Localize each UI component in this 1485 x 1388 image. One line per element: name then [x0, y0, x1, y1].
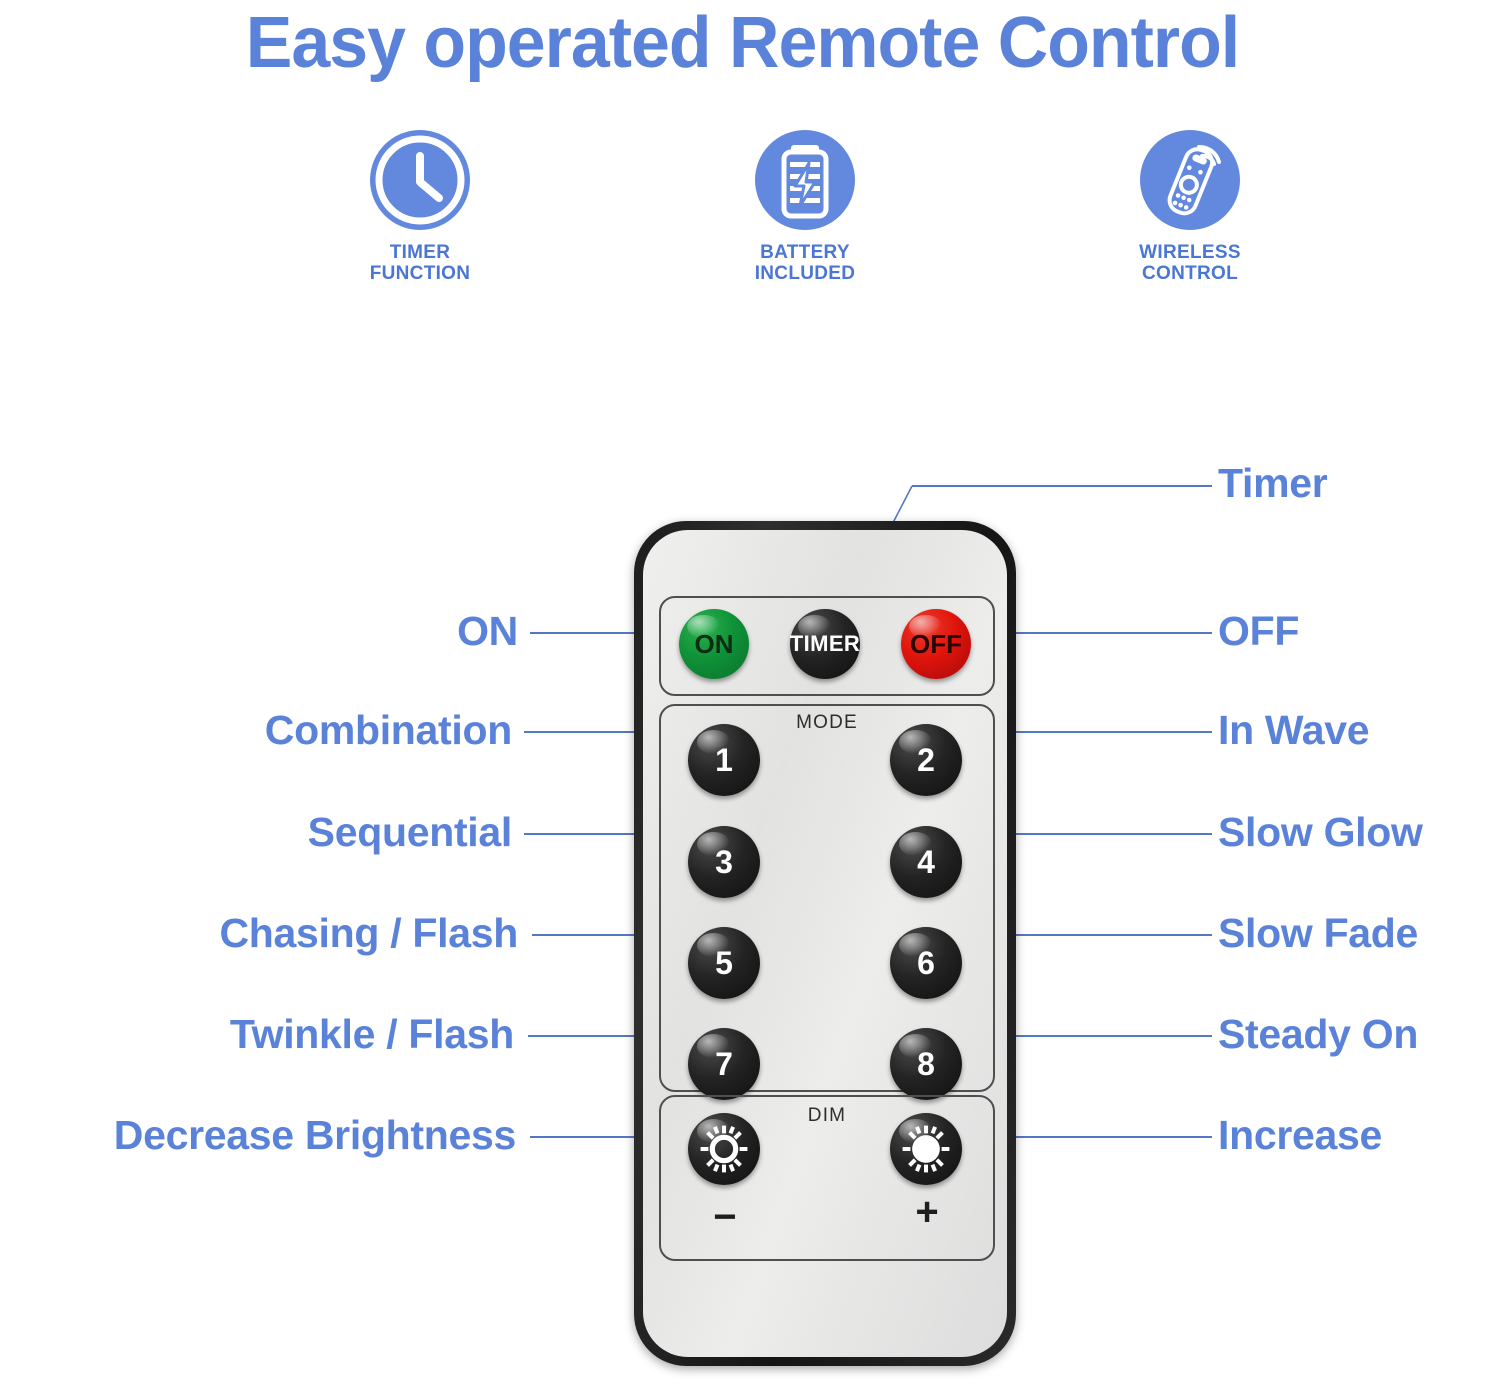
battery-icon	[755, 130, 855, 230]
feature-wireless-control: WIRELESS CONTROL	[1070, 130, 1310, 285]
callout-off: OFF	[1218, 611, 1299, 652]
remote-icon	[1140, 130, 1240, 230]
callout-timer: Timer	[1218, 463, 1327, 504]
callout-in-wave: In Wave	[1218, 710, 1369, 751]
mode-button-6[interactable]: 6	[890, 927, 962, 999]
mode-button-4[interactable]: 4	[890, 826, 962, 898]
mode-button-7[interactable]: 7	[688, 1028, 760, 1100]
callout-sequential: Sequential	[12, 812, 512, 853]
feature-label: BATTERY INCLUDED	[685, 242, 925, 285]
mode-button-8[interactable]: 8	[890, 1028, 962, 1100]
increase-brightness-button[interactable]	[890, 1113, 962, 1185]
callout-steady-on: Steady On	[1218, 1014, 1418, 1055]
on-button[interactable]: ON	[679, 609, 749, 679]
mode-button-3[interactable]: 3	[688, 826, 760, 898]
callout-increase: Increase	[1218, 1115, 1382, 1156]
feature-battery-included: BATTERY INCLUDED	[685, 130, 925, 285]
brightness-up-icon	[900, 1123, 952, 1175]
remote-control-device: ON TIMER OFF MODE 1 2 3 4	[634, 521, 1016, 1366]
callout-decrease-brightness: Decrease Brightness	[16, 1115, 516, 1156]
callout-twinkle-flash: Twinkle / Flash	[14, 1014, 514, 1055]
brightness-down-icon	[698, 1123, 750, 1175]
callout-slow-glow: Slow Glow	[1218, 812, 1423, 853]
dim-minus-sign: −	[695, 1197, 755, 1237]
callout-slow-fade: Slow Fade	[1218, 913, 1418, 954]
decrease-brightness-button[interactable]	[688, 1113, 760, 1185]
callout-on: ON	[18, 611, 518, 652]
callout-chasing-flash: Chasing / Flash	[18, 913, 518, 954]
callout-combination: Combination	[12, 710, 512, 751]
clock-icon	[370, 130, 470, 230]
mode-button-2[interactable]: 2	[890, 724, 962, 796]
feature-icon-row: TIMER FUNCTION BATTERY INCLUDED	[300, 130, 1310, 330]
page-title: Easy operated Remote Control	[22, 2, 1462, 84]
timer-button[interactable]: TIMER	[790, 609, 860, 679]
feature-label: WIRELESS CONTROL	[1070, 242, 1310, 285]
dim-plus-sign: +	[897, 1192, 957, 1232]
off-button[interactable]: OFF	[901, 609, 971, 679]
feature-timer-function: TIMER FUNCTION	[300, 130, 540, 285]
feature-label: TIMER FUNCTION	[300, 242, 540, 285]
leader-line-timer-horizontal	[912, 485, 1212, 487]
remote-faceplate: ON TIMER OFF MODE 1 2 3 4	[643, 530, 1007, 1357]
mode-button-5[interactable]: 5	[688, 927, 760, 999]
mode-button-1[interactable]: 1	[688, 724, 760, 796]
